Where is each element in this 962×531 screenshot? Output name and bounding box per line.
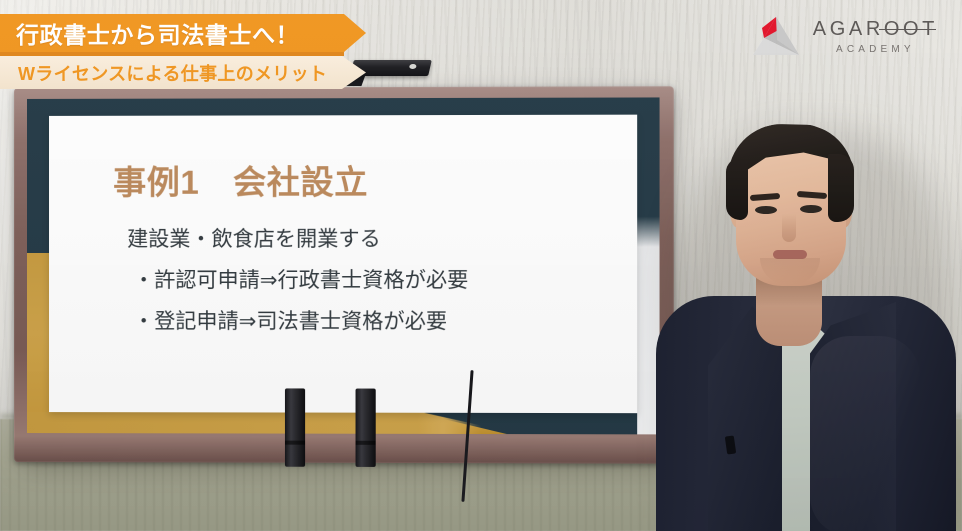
agaroot-logo-strike (879, 29, 936, 30)
slide-content-area: 事例1 会社設立 建設業・飲食店を開業する ・許認可申請⇒行政書士資格が必要 ・… (49, 115, 637, 414)
presentation-monitor: 事例1 会社設立 建設業・飲食店を開業する ・許認可申請⇒行政書士資格が必要 ・… (14, 86, 674, 463)
subhead-banner: Wライセンスによる仕事上のメリット (0, 56, 366, 89)
headline-banner-underline (0, 52, 344, 56)
presenter (660, 106, 962, 531)
presenter-eye-left (755, 206, 777, 214)
slide-body-line-3: ・登記申請⇒司法書士資格が必要 (133, 311, 606, 332)
agaroot-logo-subtitle: ACADEMY (836, 44, 915, 55)
monitor-stand-leg-left (285, 388, 305, 466)
stand-leg-ring (285, 441, 305, 445)
headline-banner: 行政書士から司法書士へ！ (0, 14, 366, 52)
presenter-nose (782, 214, 796, 242)
presenter-hair-side-right (828, 154, 854, 222)
video-frame: 事例1 会社設立 建設業・飲食店を開業する ・許認可申請⇒行政書士資格が必要 ・… (0, 0, 962, 531)
monitor-stand-leg-right (356, 389, 376, 467)
slide-title: 事例1 会社設立 (113, 155, 368, 203)
agaroot-triangle-logo-icon (751, 14, 801, 58)
presenter-hair-side-left (726, 158, 748, 220)
webcam-lens-icon (409, 64, 416, 69)
presenter-blazer-highlight (810, 336, 920, 531)
agaroot-logo-text: AGAROOT ACADEMY (813, 18, 938, 55)
presenter-eye-right (800, 205, 822, 213)
slide-body: 建設業・飲食店を開業する ・許認可申請⇒行政書士資格が必要 ・登記申請⇒司法書士… (127, 229, 607, 353)
agaroot-logo: AGAROOT ACADEMY (751, 14, 938, 58)
monitor-screen: 事例1 会社設立 建設業・飲食店を開業する ・許認可申請⇒行政書士資格が必要 ・… (27, 97, 660, 434)
slide-body-line-1: 建設業・飲食店を開業する (127, 229, 607, 250)
stand-leg-ring (356, 441, 376, 445)
agaroot-logo-name: AGAROOT (813, 18, 938, 41)
slide-body-line-2: ・許認可申請⇒行政書士資格が必要 (133, 270, 606, 291)
slide-accent-gold-left (27, 253, 49, 433)
